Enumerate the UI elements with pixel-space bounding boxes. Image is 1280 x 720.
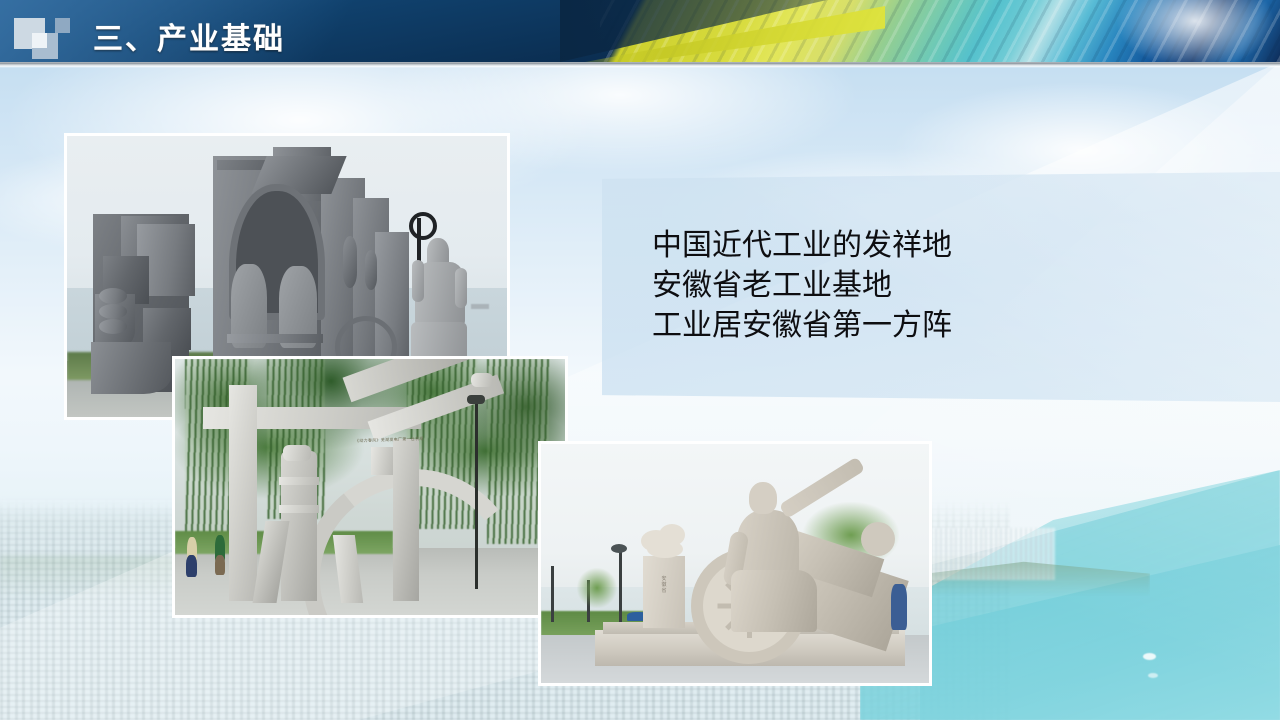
photo2-column <box>229 385 257 601</box>
decor-square-small-blue <box>55 18 70 33</box>
panel-line-3: 工业居安徽省第一方阵 <box>652 306 1252 346</box>
panel-line-2: 安徽省老工业基地 <box>652 266 1252 306</box>
photo3-visitor <box>891 584 907 630</box>
photo2-lamp-post <box>475 399 478 589</box>
photo2-beam-tip <box>471 373 493 387</box>
photo1-relief-detail <box>365 250 377 290</box>
photo1-fist-knuckle <box>99 288 127 304</box>
photo1-staff-ring <box>409 212 437 240</box>
photo1-statue-arm <box>455 268 467 308</box>
photo1-statue-arm <box>412 260 424 302</box>
photo1-relief-detail <box>343 236 357 288</box>
photo3-column-inscription: 安徽省 <box>643 576 685 594</box>
panel-line-1: 中国近代工业的发祥地 <box>652 226 1252 266</box>
page-title: 三、产业基础 <box>93 14 285 58</box>
photo3-worker-legs <box>731 570 817 632</box>
header-highlight-glow <box>1105 0 1280 62</box>
photo2-visitor <box>215 555 225 575</box>
photo3-worker-head <box>749 482 777 514</box>
photo2-cylinder-band <box>279 505 319 513</box>
photo2-column-cap <box>371 447 393 475</box>
text-panel-content: 中国近代工业的发祥地 安徽省老工业基地 工业居安徽省第一方阵 <box>652 226 1252 346</box>
decor-square-small-light <box>32 33 47 48</box>
photo1-relief-bench <box>227 334 323 343</box>
photo3-lamp-head <box>611 544 627 553</box>
photo-worker-statue-waterwheel[interactable]: 安徽省 <box>538 441 932 686</box>
photo3-lamp-post <box>551 566 554 622</box>
photo2-visitor <box>186 555 197 577</box>
photo2-lamp-head <box>467 395 485 404</box>
header-divider-highlight <box>0 66 1280 68</box>
slide-header-bar: 三、产业基础 <box>0 0 1280 62</box>
photo3-lamp-post <box>619 550 622 624</box>
slide-root: 三、产业基础 中国近代工业的发祥地 安徽省老工业基地 工业居安徽省第一方阵 <box>0 0 1280 720</box>
boat-icon <box>1148 673 1158 678</box>
photo2-column <box>393 439 419 601</box>
photo2-cylinder-top <box>283 445 311 461</box>
photo1-boat <box>471 304 489 309</box>
photo2-cylinder-band <box>279 477 319 485</box>
photo1-fist-knuckle <box>99 304 127 319</box>
photo3-small-tree <box>577 568 617 608</box>
photo1-left-base <box>91 342 171 394</box>
photo-granite-sculpture-willows[interactable]: 《动力春风》芜湖发电厂第一台机组 <box>172 356 568 618</box>
photo3-stone-cloud <box>647 540 683 558</box>
photo3-stone-sphere <box>861 522 895 556</box>
photo1-fist-knuckle <box>99 319 127 334</box>
boat-icon <box>1143 653 1156 660</box>
